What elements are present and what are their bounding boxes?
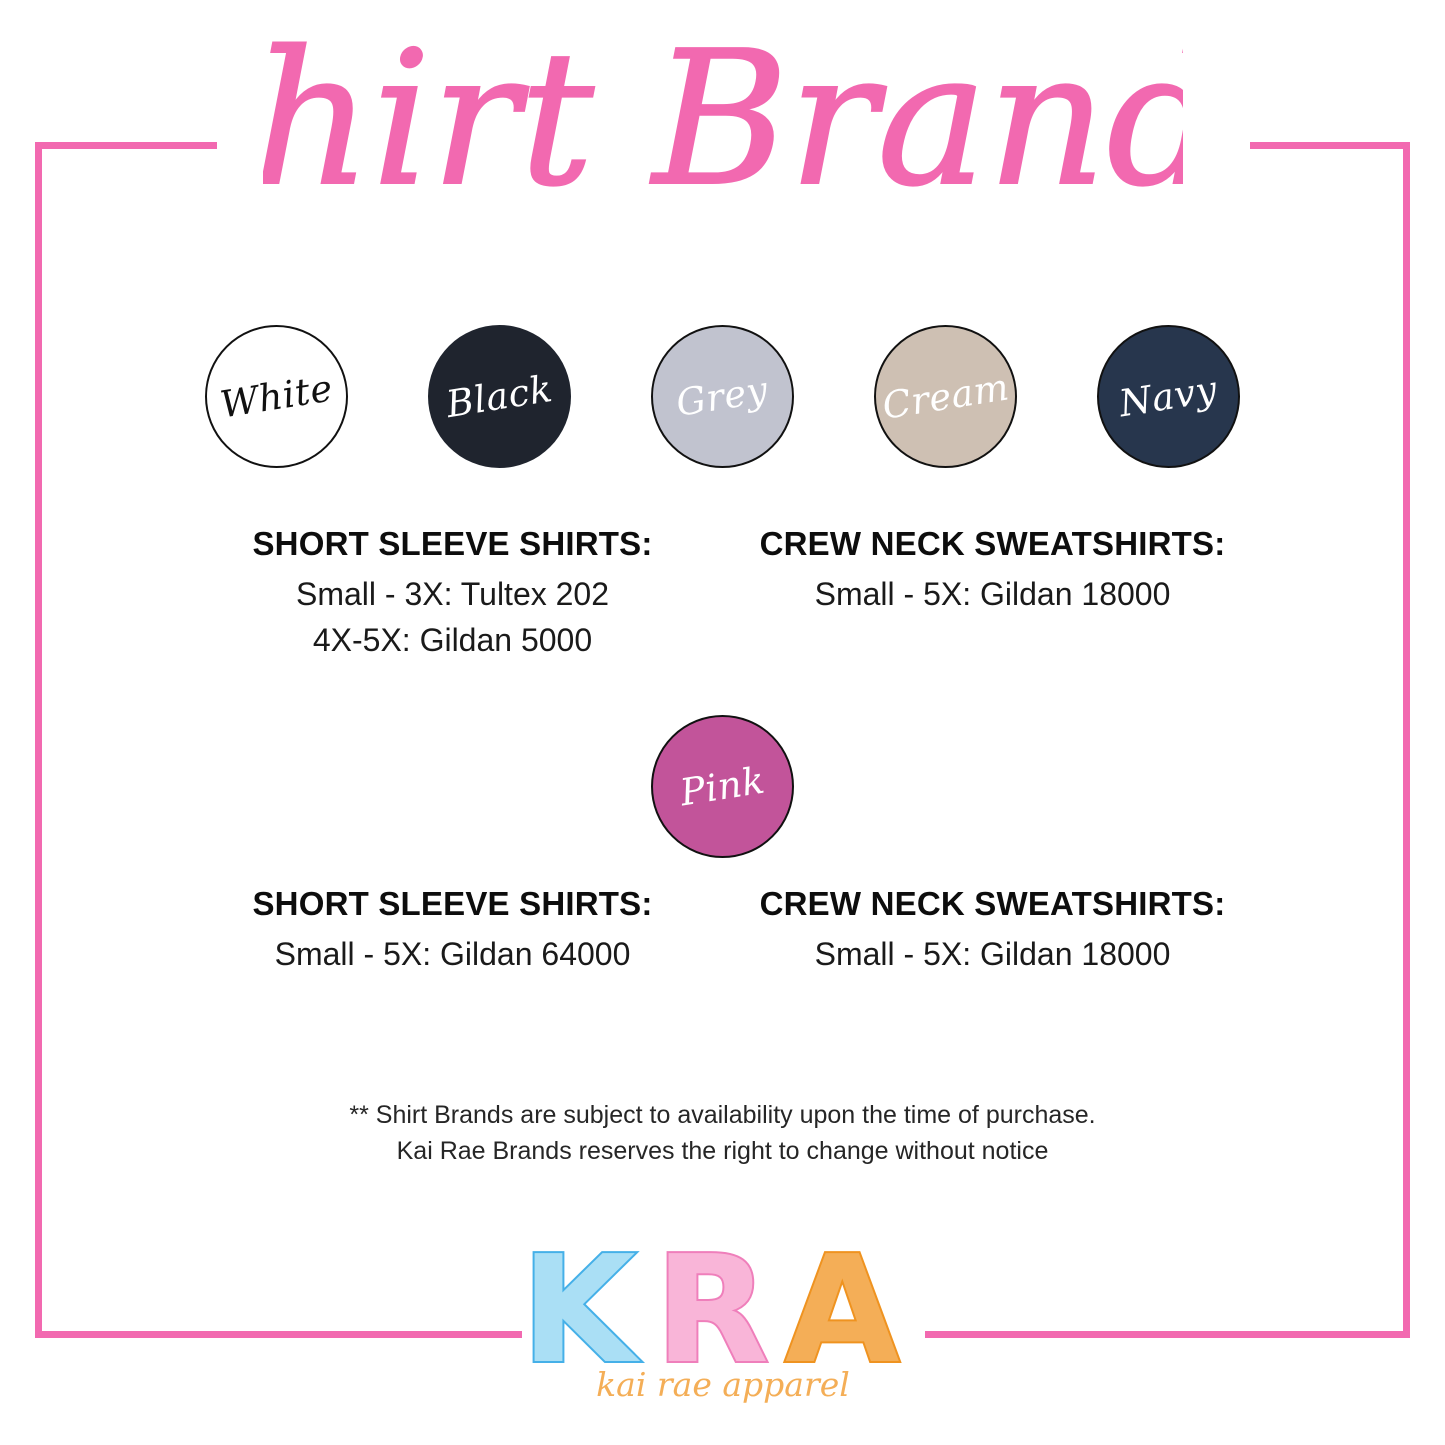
- color-swatch-pink[interactable]: Pink: [651, 715, 794, 858]
- disclaimer-line-2: Kai Rae Brands reserves the right to cha…: [0, 1133, 1445, 1169]
- color-swatch-white-label: White: [218, 369, 335, 423]
- crew-neck-sweatshirts-line-1-top: Small - 5X: Gildan 18000: [723, 573, 1263, 615]
- crew-neck-sweatshirts-heading-top: CREW NECK SWEATSHIRTS:: [723, 525, 1263, 563]
- short-sleeve-shirts-block-bottom: SHORT SLEEVE SHIRTS: Small - 5X: Gildan …: [183, 885, 723, 979]
- short-sleeve-shirts-heading-bottom: SHORT SLEEVE SHIRTS:: [183, 885, 723, 923]
- color-swatch-cream-label: Cream: [880, 368, 1012, 424]
- brand-logo-tagline-svg: kai rae apparel: [533, 1352, 913, 1416]
- short-sleeve-shirts-block-top: SHORT SLEEVE SHIRTS: Small - 3X: Tultex …: [183, 525, 723, 665]
- crew-neck-sweatshirts-heading-bottom: CREW NECK SWEATSHIRTS:: [723, 885, 1263, 923]
- frame-border-top-right: [1250, 142, 1410, 149]
- short-sleeve-shirts-line-1-bottom: Small - 5X: Gildan 64000: [183, 933, 723, 975]
- color-swatch-black-label: Black: [444, 370, 555, 423]
- color-swatch-row-primary: White Black Grey Cream Navy: [0, 325, 1445, 468]
- page-title: Shirt Brands: [0, 6, 1445, 256]
- short-sleeve-shirts-heading-top: SHORT SLEEVE SHIRTS:: [183, 525, 723, 563]
- color-swatch-navy[interactable]: Navy: [1097, 325, 1240, 468]
- color-swatch-pink-label: Pink: [678, 762, 768, 812]
- color-swatch-white[interactable]: White: [205, 325, 348, 468]
- short-sleeve-shirts-line-1-top: Small - 3X: Tultex 202: [183, 573, 723, 615]
- color-swatch-navy-label: Navy: [1117, 371, 1220, 423]
- crew-neck-sweatshirts-block-top: CREW NECK SWEATSHIRTS: Small - 5X: Gilda…: [723, 525, 1263, 665]
- frame-border-top-left: [35, 142, 217, 149]
- color-swatch-cream[interactable]: Cream: [874, 325, 1017, 468]
- color-swatch-grey-label: Grey: [674, 371, 771, 422]
- brand-info-section-top: SHORT SLEEVE SHIRTS: Small - 3X: Tultex …: [0, 525, 1445, 665]
- page-title-script-lettering: Shirt Brands: [263, 11, 1183, 251]
- color-swatch-row-secondary: Pink: [0, 715, 1445, 858]
- disclaimer-line-1: ** Shirt Brands are subject to availabil…: [0, 1097, 1445, 1133]
- color-swatch-grey[interactable]: Grey: [651, 325, 794, 468]
- short-sleeve-shirts-line-2-top: 4X-5X: Gildan 5000: [183, 619, 723, 661]
- crew-neck-sweatshirts-line-1-bottom: Small - 5X: Gildan 18000: [723, 933, 1263, 975]
- page-title-text: Shirt Brands: [263, 11, 1183, 227]
- color-swatch-black[interactable]: Black: [428, 325, 571, 468]
- crew-neck-sweatshirts-block-bottom: CREW NECK SWEATSHIRTS: Small - 5X: Gilda…: [723, 885, 1263, 979]
- brand-logo-tagline-wrap: kai rae apparel: [533, 1352, 913, 1421]
- brand-logo-tagline: kai rae apparel: [596, 1365, 850, 1404]
- brand-info-section-bottom: SHORT SLEEVE SHIRTS: Small - 5X: Gildan …: [0, 885, 1445, 979]
- brand-logo: K R A kai rae apparel: [0, 1243, 1445, 1421]
- disclaimer: ** Shirt Brands are subject to availabil…: [0, 1097, 1445, 1170]
